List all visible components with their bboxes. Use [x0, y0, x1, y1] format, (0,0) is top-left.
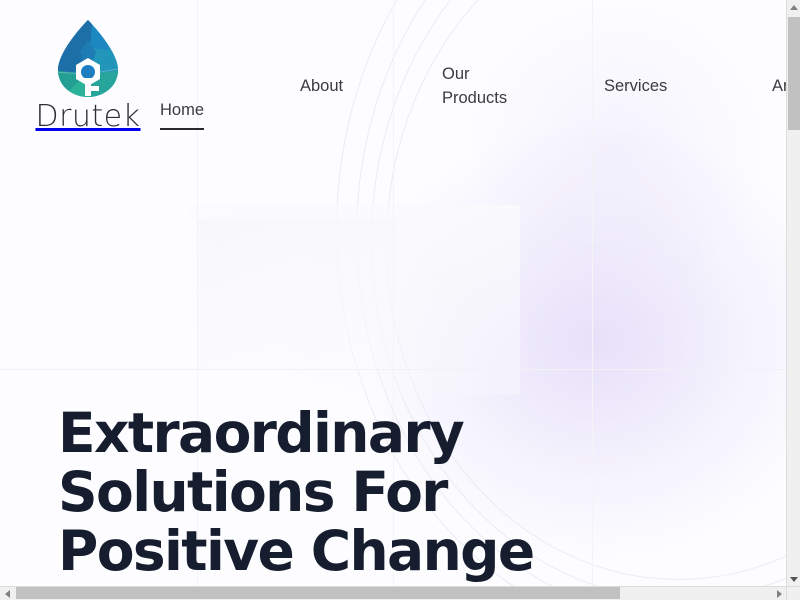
- vertical-scrollbar-thumb[interactable]: [788, 17, 800, 130]
- nav-item-services[interactable]: Services: [604, 75, 667, 99]
- main-navigation: Home About Our Products Services Art: [160, 58, 786, 118]
- scrollbar-corner: [786, 586, 800, 600]
- nav-item-home-label: Home: [160, 101, 204, 119]
- vertical-scrollbar[interactable]: [786, 0, 800, 586]
- nav-item-our-products[interactable]: Our Products: [442, 63, 507, 111]
- water-droplet-logo-icon: [52, 18, 124, 100]
- site-header: Drutek Home About Our Products Services …: [0, 0, 786, 150]
- brand-wordmark: Drutek: [35, 102, 140, 132]
- scroll-down-arrow-icon[interactable]: [787, 572, 800, 586]
- scroll-left-arrow-icon[interactable]: [0, 587, 14, 600]
- page-viewport: Drutek Home About Our Products Services …: [0, 0, 786, 586]
- brand-logo[interactable]: Drutek: [28, 18, 148, 132]
- hero-section: Extraordinary Solutions For Positive Cha…: [58, 404, 578, 581]
- nav-item-home[interactable]: Home: [160, 75, 204, 154]
- hero-heading: Extraordinary Solutions For Positive Cha…: [58, 404, 578, 581]
- grid-line-horizontal-1: [0, 369, 786, 370]
- nav-item-about[interactable]: About: [300, 75, 343, 99]
- horizontal-scrollbar[interactable]: [0, 586, 786, 600]
- background-panel-shape: [197, 219, 397, 371]
- horizontal-scrollbar-thumb[interactable]: [16, 587, 620, 599]
- scroll-right-arrow-icon[interactable]: [772, 587, 786, 600]
- nav-item-articles[interactable]: Art: [772, 75, 786, 99]
- nav-active-underline: [160, 128, 204, 131]
- scroll-up-arrow-icon[interactable]: [787, 0, 800, 14]
